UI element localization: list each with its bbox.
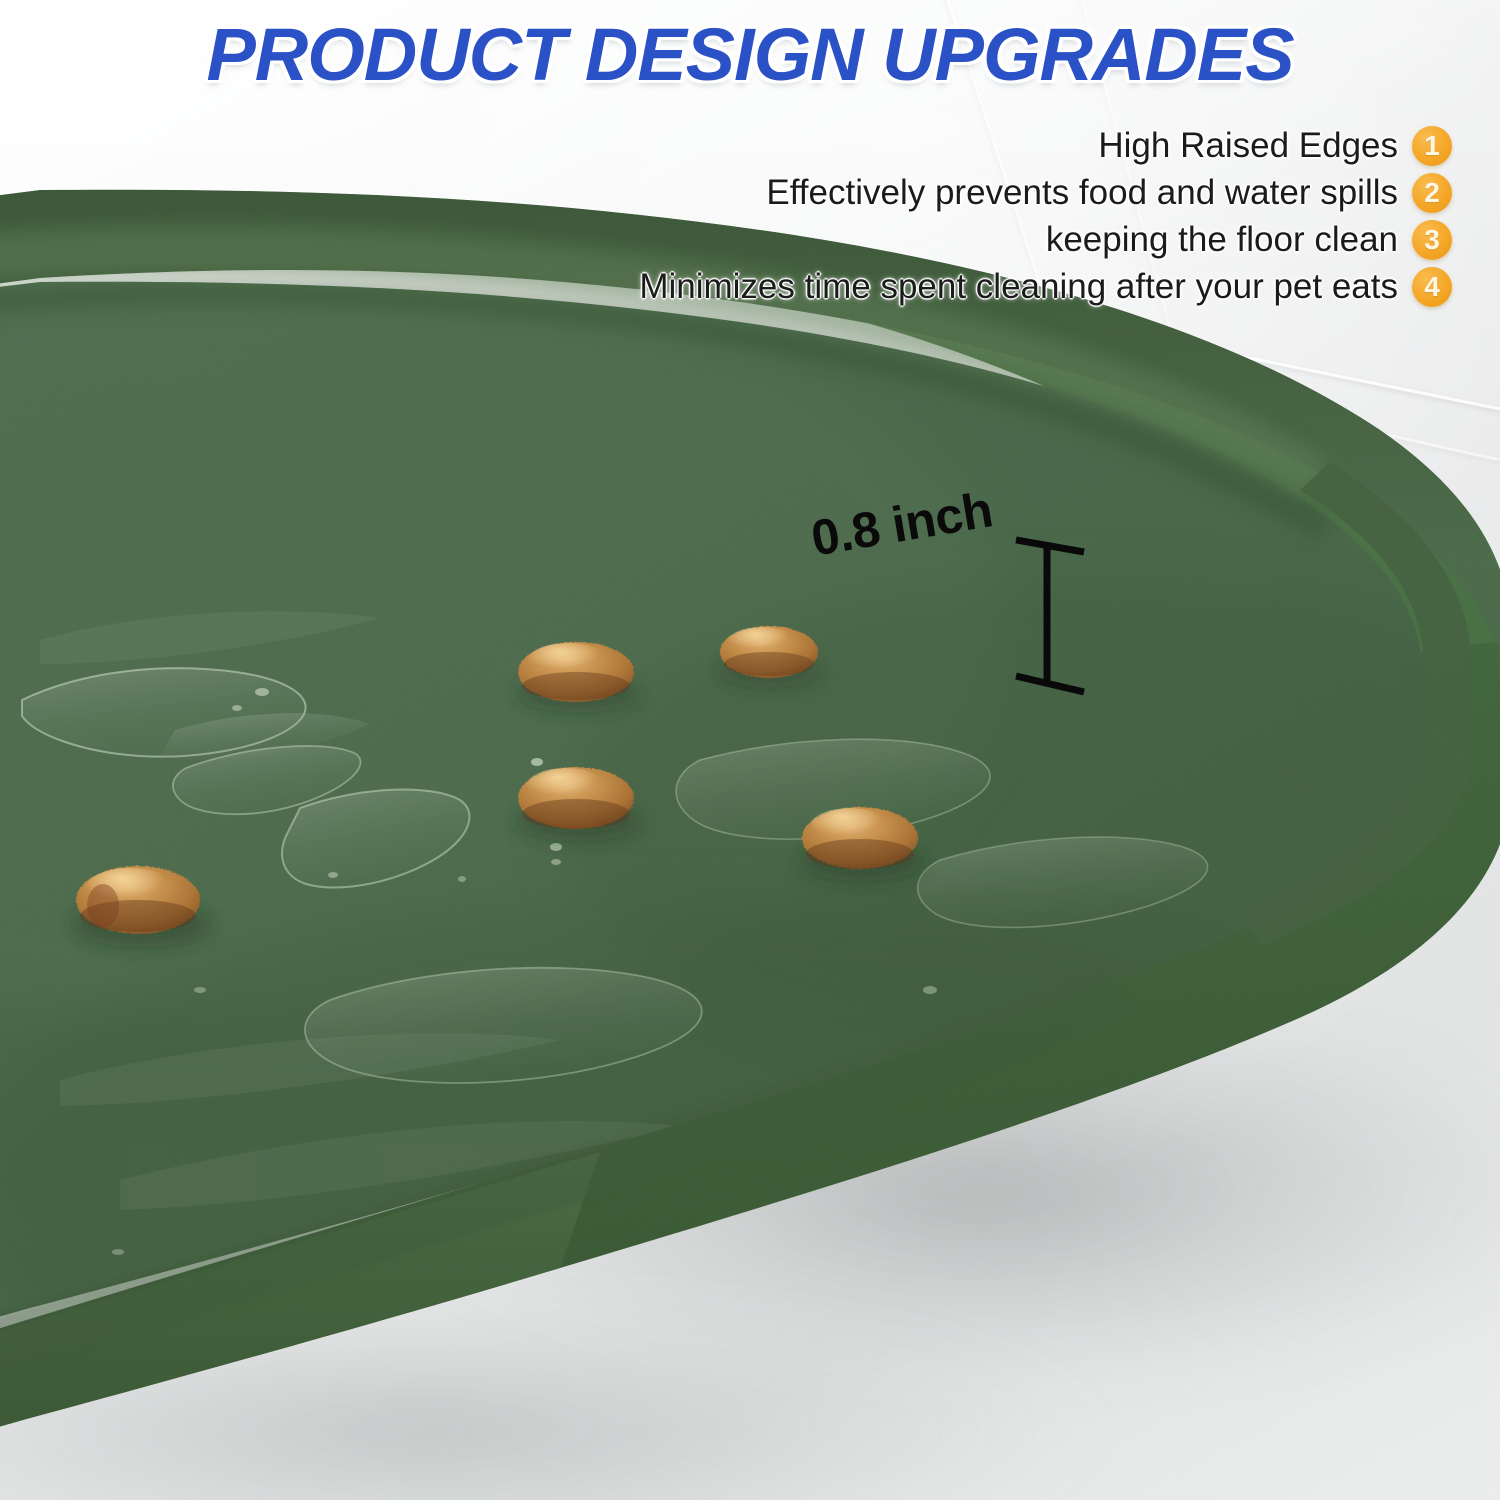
list-item: Effectively prevents food and water spil…	[766, 173, 1452, 213]
list-item: Minimizes time spent cleaning after your…	[639, 267, 1452, 307]
feature-number-badge: 3	[1412, 220, 1452, 260]
product-marketing-image: PRODUCT DESIGN UPGRADES High Raised Edge…	[0, 0, 1500, 1500]
list-item: keeping the floor clean 3	[1046, 220, 1452, 260]
feature-list: High Raised Edges 1 Effectively prevents…	[639, 126, 1452, 307]
feature-number-badge: 4	[1412, 267, 1452, 307]
feature-text: Minimizes time spent cleaning after your…	[639, 267, 1398, 306]
feature-text: High Raised Edges	[1098, 126, 1398, 165]
feature-number-badge: 1	[1412, 126, 1452, 166]
feature-number-badge: 2	[1412, 173, 1452, 213]
feature-text: keeping the floor clean	[1046, 220, 1398, 259]
page-title: PRODUCT DESIGN UPGRADES	[0, 18, 1500, 92]
feature-text: Effectively prevents food and water spil…	[766, 173, 1398, 212]
list-item: High Raised Edges 1	[1098, 126, 1452, 166]
